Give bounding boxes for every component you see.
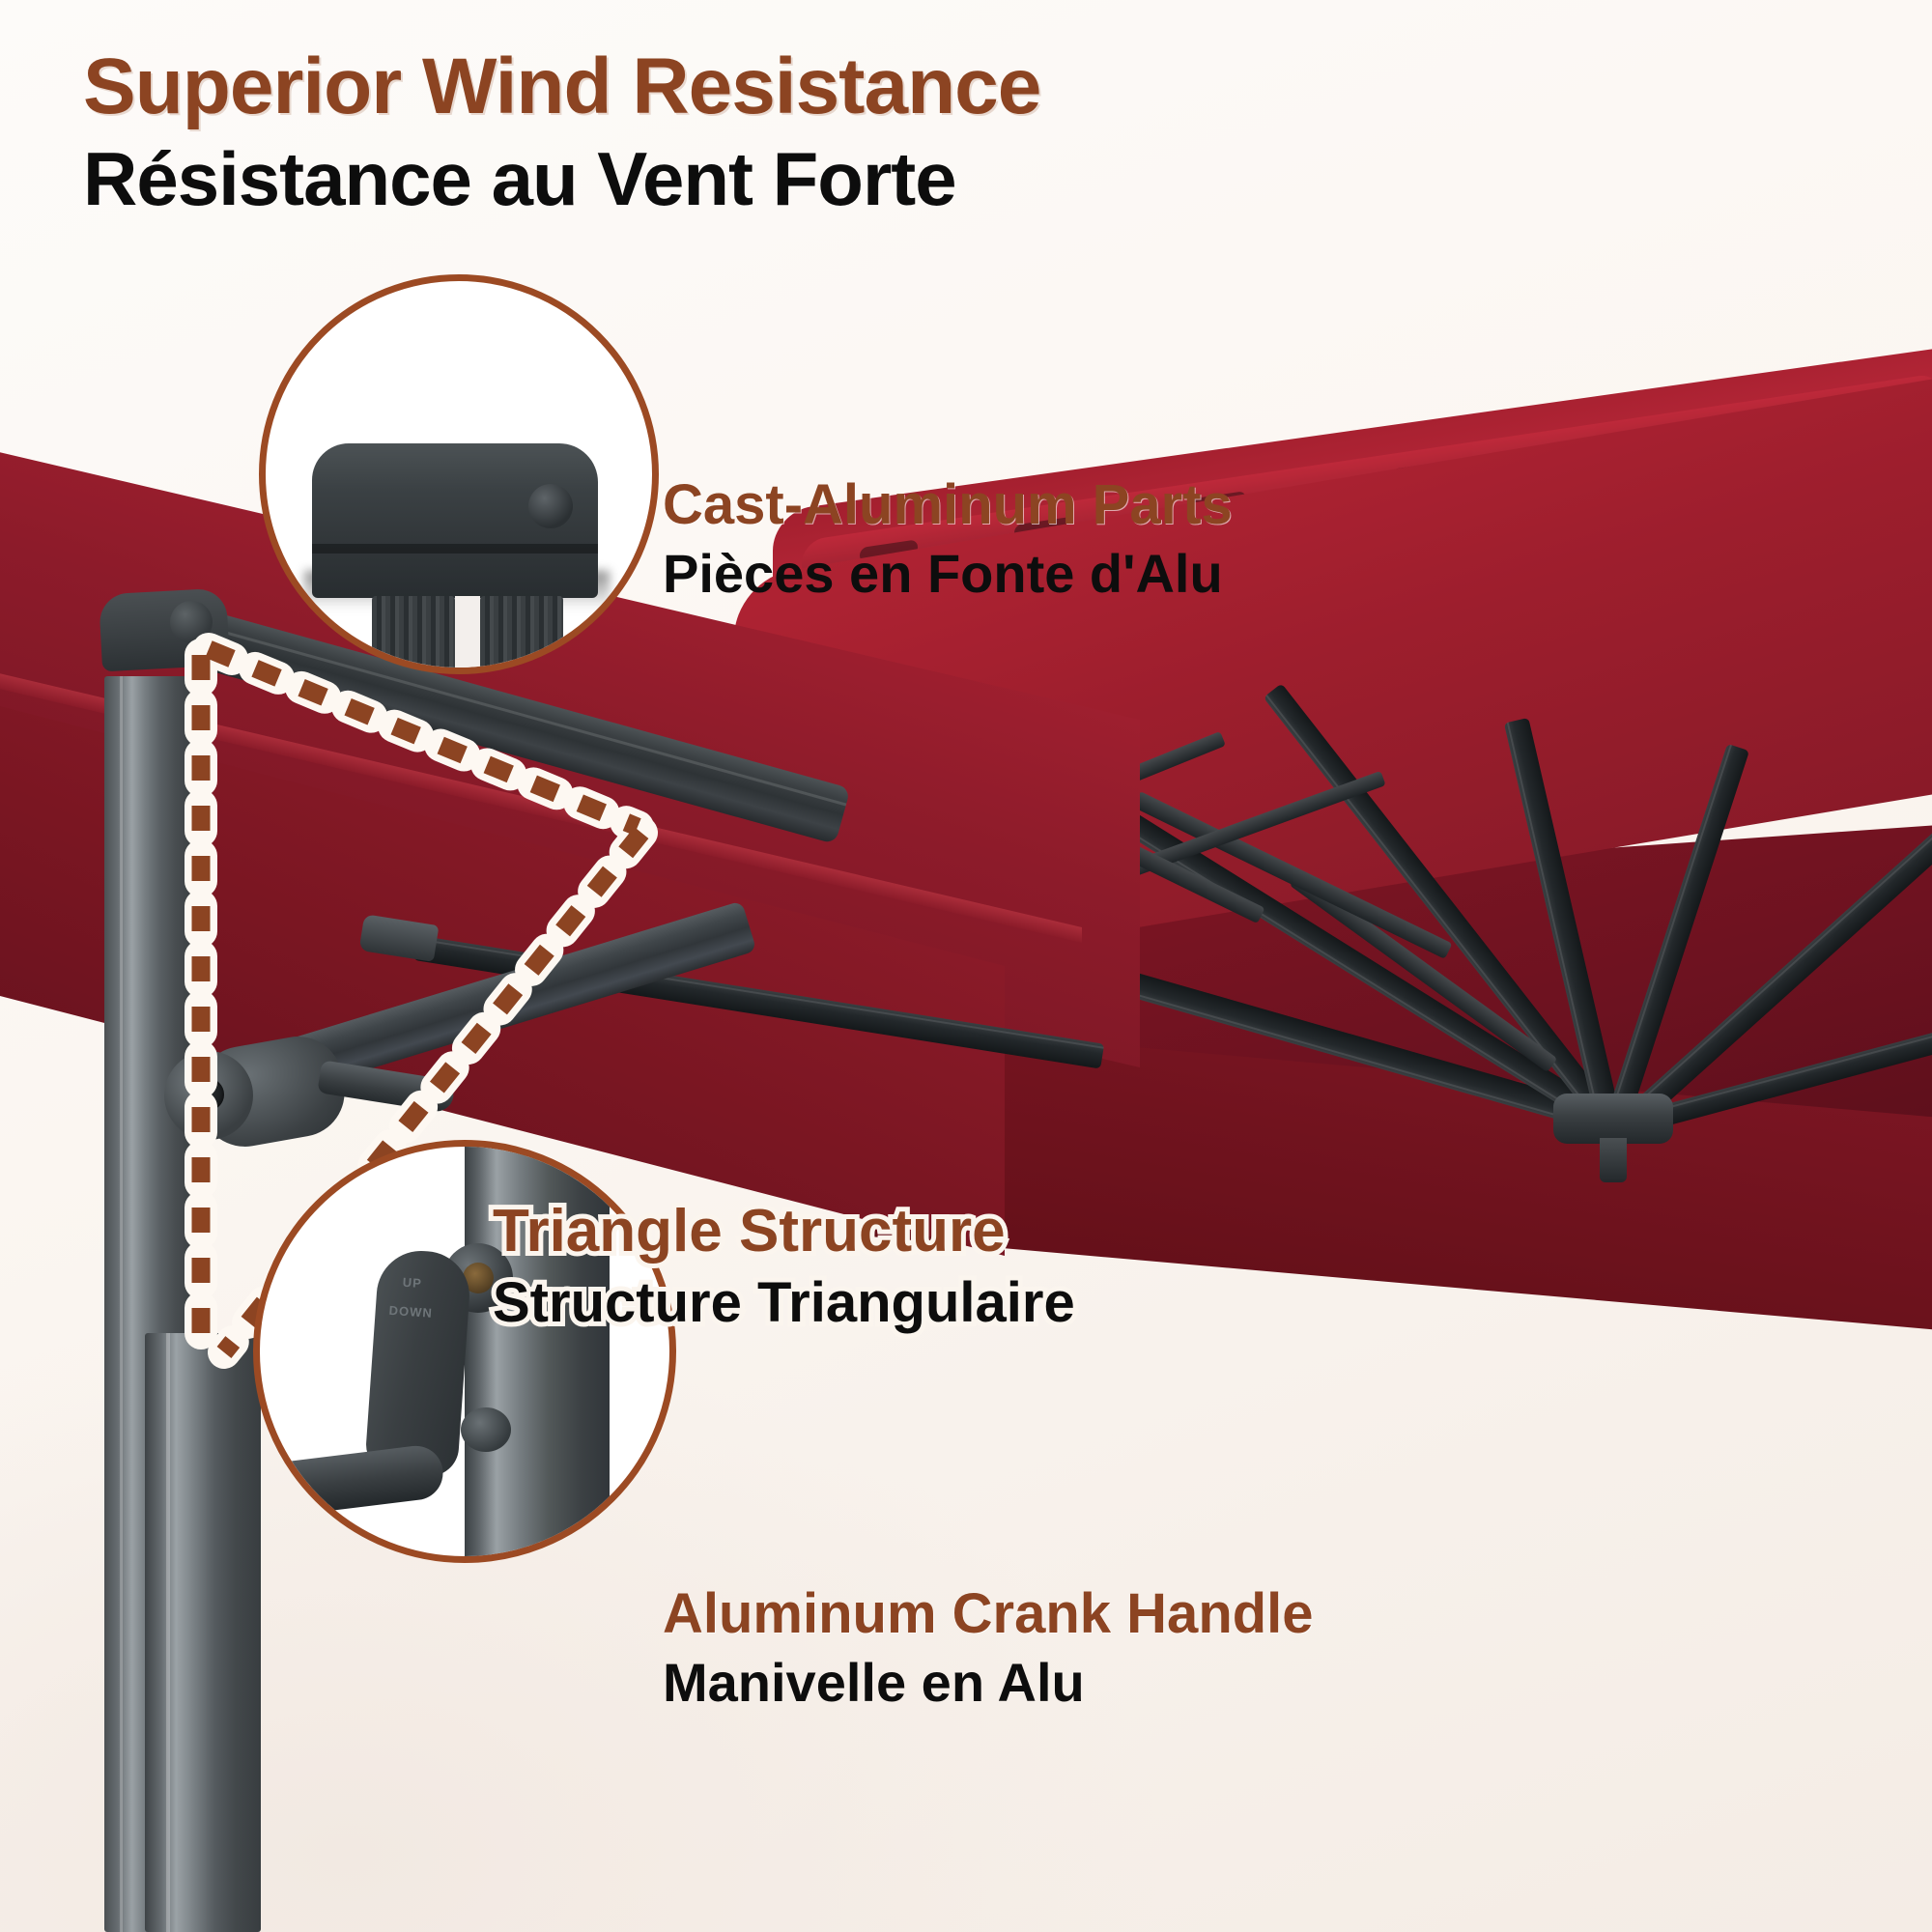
cast-aluminum-joint-photo [266,281,652,668]
callout-cast-aluminum-parts [259,274,659,674]
crank-arm [364,1248,472,1478]
feature-label-french: Manivelle en Alu [663,1653,1314,1713]
cast-aluminum-leg [372,596,455,674]
feature-label-english: Cast-Aluminum Parts [663,475,1233,536]
headline-french: Résistance au Vent Forte [83,139,1532,219]
feature-label-cast-aluminum-parts: Cast-Aluminum Parts Pièces en Fonte d'Al… [663,475,1233,603]
feature-label-french: Pièces en Fonte d'Alu [663,544,1233,604]
cast-aluminum-pin [528,484,573,528]
cast-aluminum-slot [455,596,480,674]
feature-label-french: Structure Triangulaire [493,1272,1075,1334]
feature-label-english: Triangle Structure [493,1200,1075,1264]
cast-aluminum-leg [480,596,563,674]
headline-english: Superior Wind Resistance [83,46,1532,128]
feature-label-english: Aluminum Crank Handle [663,1584,1314,1645]
feature-label-aluminum-crank-handle: Aluminum Crank Handle Manivelle en Alu [663,1584,1314,1712]
crank-grip-handle [257,1443,445,1520]
infographic-canvas: Superior Wind Resistance Résistance au V… [0,0,1932,1932]
umbrella-mast-lower [145,1333,261,1932]
crank-lock-bump [461,1407,511,1452]
feature-label-triangle-structure: Triangle Structure Structure Triangulair… [493,1200,1075,1334]
headline-block: Superior Wind Resistance Résistance au V… [83,46,1532,218]
canopy-hub [1553,1094,1673,1144]
cantilever-pivot-joint [164,1051,253,1140]
mast-pivot-knob [170,601,213,643]
